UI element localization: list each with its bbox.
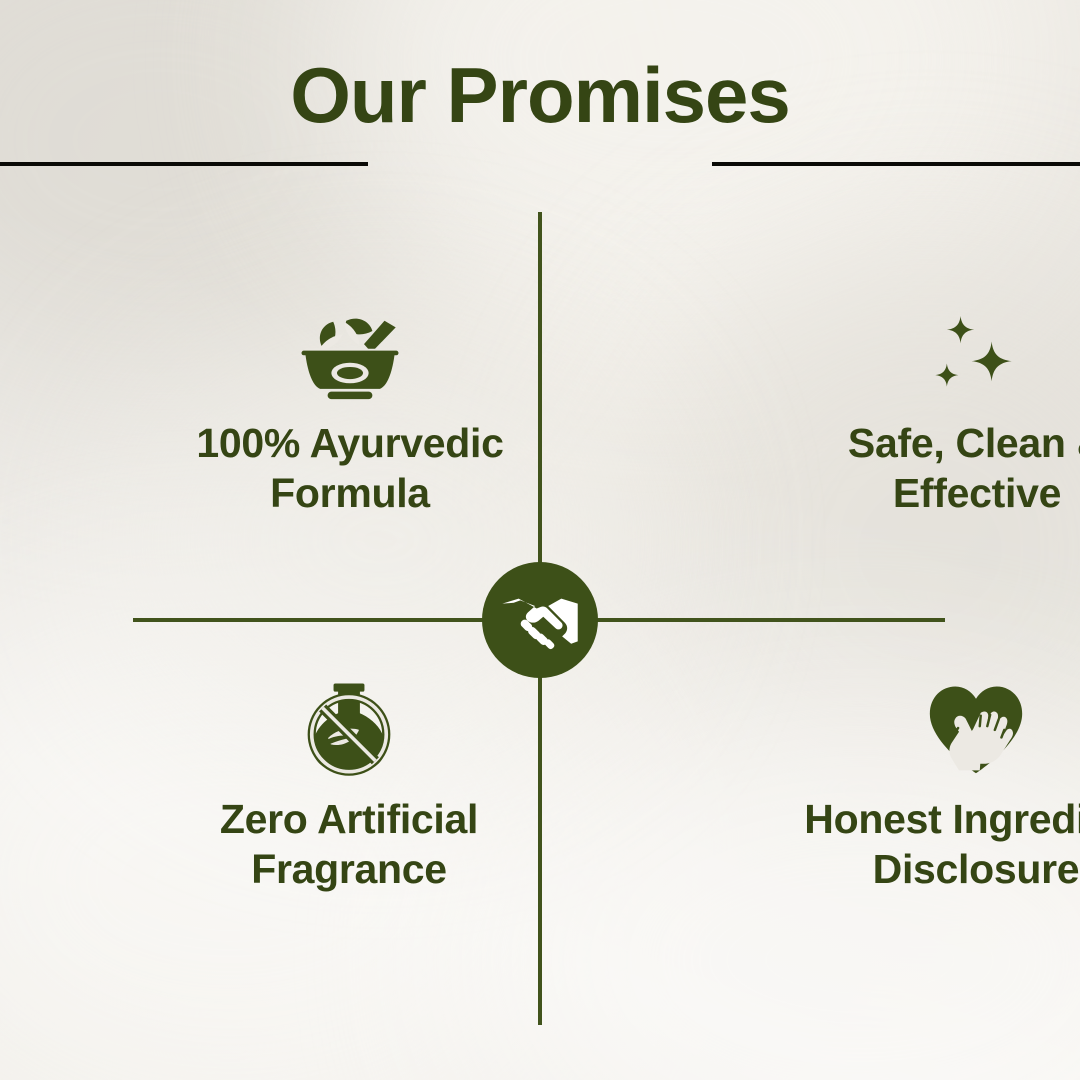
no-artificial-flask-icon [299, 676, 399, 780]
heart-hands-icon [924, 676, 1028, 780]
promise-item-no-fragrance: Zero Artificial Fragrance [110, 676, 550, 895]
promise-item-disclosure: Honest Ingredient Disclosure [540, 676, 980, 895]
promise-label-line1: Honest Ingredient [804, 796, 1080, 842]
page-title: Our Promises [0, 56, 1080, 134]
sparkles-icon [922, 300, 1032, 404]
promise-label: Safe, Clean & Effective [848, 418, 1080, 519]
promise-label-line1: 100% Ayurvedic [196, 420, 503, 466]
promise-label-line2: Disclosure [873, 846, 1080, 892]
handshake-icon [499, 579, 581, 661]
promise-label-line2: Formula [270, 470, 430, 516]
promise-label-line1: Zero Artificial [220, 796, 478, 842]
promise-item-ayurvedic: 100% Ayurvedic Formula [110, 300, 550, 519]
promise-label-line1: Safe, Clean & [848, 420, 1080, 466]
promise-label-line2: Fragrance [251, 846, 447, 892]
promise-label: Zero Artificial Fragrance [220, 794, 478, 895]
header-rule-left [0, 162, 368, 166]
header-rule-right [712, 162, 1080, 166]
promise-label: 100% Ayurvedic Formula [196, 418, 503, 519]
promise-label-line2: Effective [893, 470, 1061, 516]
promise-item-safe-clean: Safe, Clean & Effective [540, 300, 980, 519]
center-badge [482, 562, 598, 678]
promise-label: Honest Ingredient Disclosure [804, 794, 1080, 895]
promises-infographic: Our Promises [0, 0, 1080, 1080]
mortar-and-pestle-icon [294, 300, 406, 404]
